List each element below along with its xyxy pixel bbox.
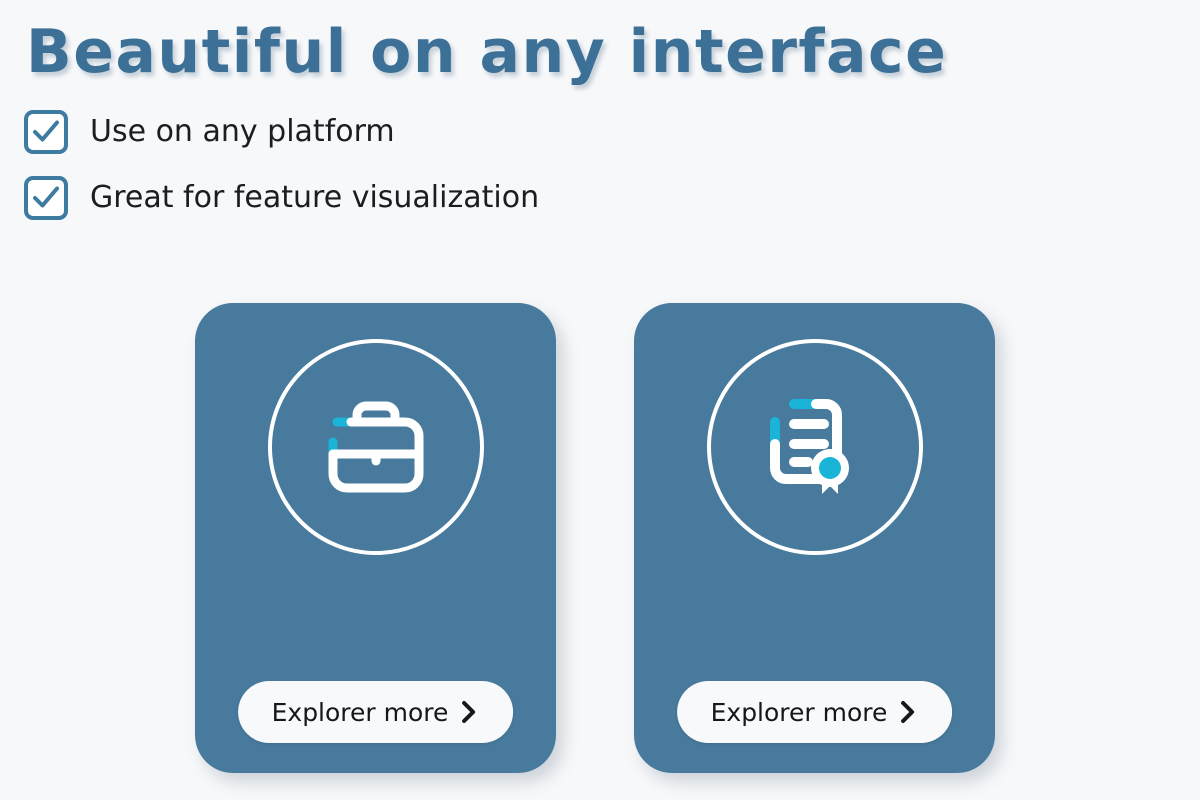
icon-circle-ring xyxy=(268,339,484,555)
page-title: Beautiful on any interface xyxy=(26,22,947,82)
icon-circle-ring xyxy=(707,339,923,555)
checkmark-icon xyxy=(31,183,61,213)
checklist-item-label: Great for feature visualization xyxy=(90,183,539,213)
explore-more-label: Explorer more xyxy=(272,700,449,725)
explore-more-button-briefcase[interactable]: Explorer more xyxy=(238,681,514,743)
chevron-right-icon xyxy=(459,699,479,725)
explore-more-label: Explorer more xyxy=(711,700,888,725)
card-icon-container xyxy=(195,339,556,555)
feature-card-briefcase[interactable]: Explorer more xyxy=(195,303,556,773)
checklist-item-use-on-any-platform[interactable]: Use on any platform xyxy=(24,110,539,154)
explore-more-button-certificate[interactable]: Explorer more xyxy=(677,681,953,743)
card-icon-container xyxy=(634,339,995,555)
briefcase-icon xyxy=(311,382,441,512)
checkmark-icon xyxy=(31,117,61,147)
feature-card-group: Explorer more xyxy=(195,303,995,773)
checkbox-great-for-feature-visualization[interactable] xyxy=(24,176,68,220)
checklist-item-great-for-feature-visualization[interactable]: Great for feature visualization xyxy=(24,176,539,220)
chevron-right-icon xyxy=(898,699,918,725)
checkbox-use-on-any-platform[interactable] xyxy=(24,110,68,154)
certificate-icon xyxy=(750,382,880,512)
checklist-item-label: Use on any platform xyxy=(90,117,395,147)
feature-checklist: Use on any platform Great for feature vi… xyxy=(24,110,539,220)
feature-card-certificate[interactable]: Explorer more xyxy=(634,303,995,773)
